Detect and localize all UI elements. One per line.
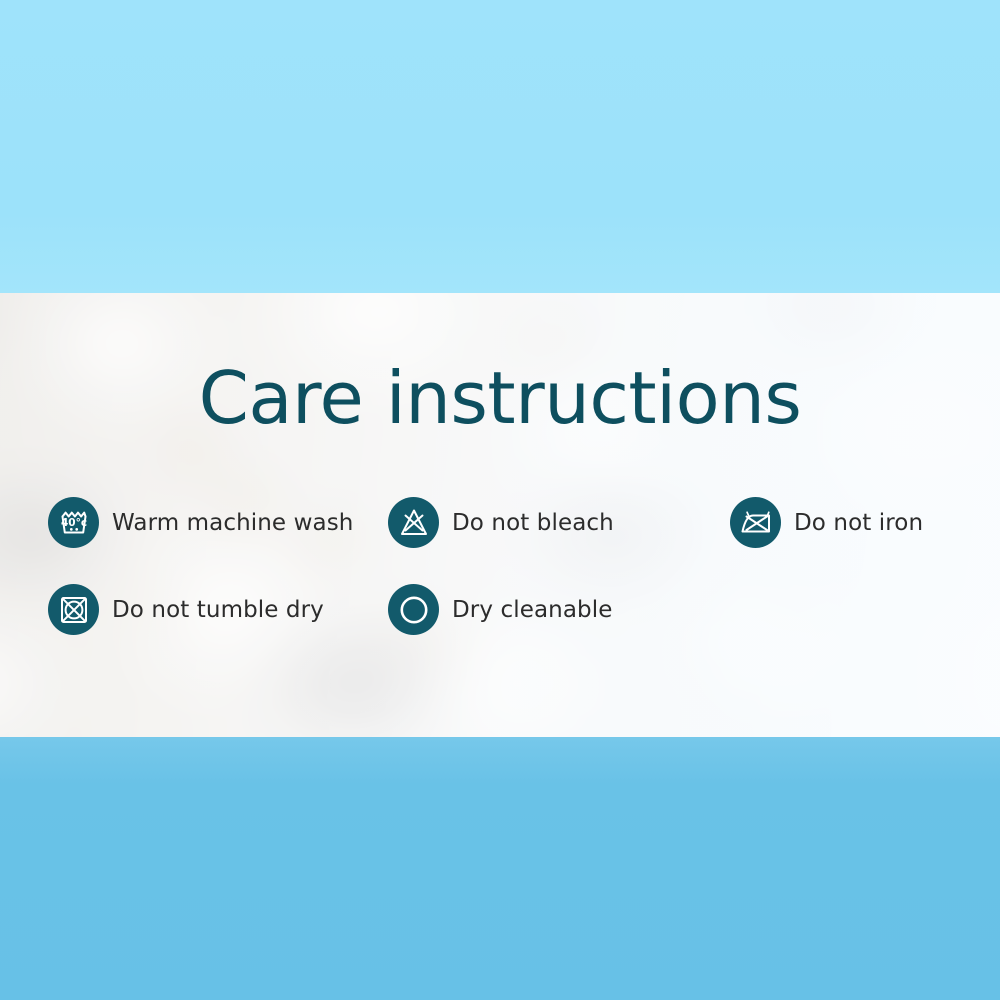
washtub-temperature-label: 40°c [60,516,86,528]
top-color-band [0,0,1000,293]
banner-content-area: Care instructions 40°c [0,293,1000,737]
care-item-label: Do not tumble dry [112,597,324,623]
care-item-dry-cleanable: Dry cleanable [388,584,612,635]
no-bleach-triangle-icon [388,497,439,548]
care-item-label: Do not bleach [452,510,614,536]
care-item-do-not-iron: Do not iron [730,497,923,548]
bottom-color-band [0,737,1000,1000]
care-item-warm-machine-wash: 40°c Warm machine wash [48,497,353,548]
dry-clean-circle-icon [388,584,439,635]
no-tumble-dry-icon [48,584,99,635]
care-item-label: Do not iron [794,510,923,536]
care-instructions-banner: Care instructions 40°c [0,0,1000,1000]
page-title: Care instructions [0,356,1000,440]
washtub-40c-icon: 40°c [48,497,99,548]
care-item-label: Warm machine wash [112,510,353,536]
care-item-do-not-tumble-dry: Do not tumble dry [48,584,324,635]
care-item-do-not-bleach: Do not bleach [388,497,614,548]
care-item-label: Dry cleanable [452,597,612,623]
no-iron-icon [730,497,781,548]
care-symbol-list: 40°c Warm machine wash D [0,491,1000,671]
